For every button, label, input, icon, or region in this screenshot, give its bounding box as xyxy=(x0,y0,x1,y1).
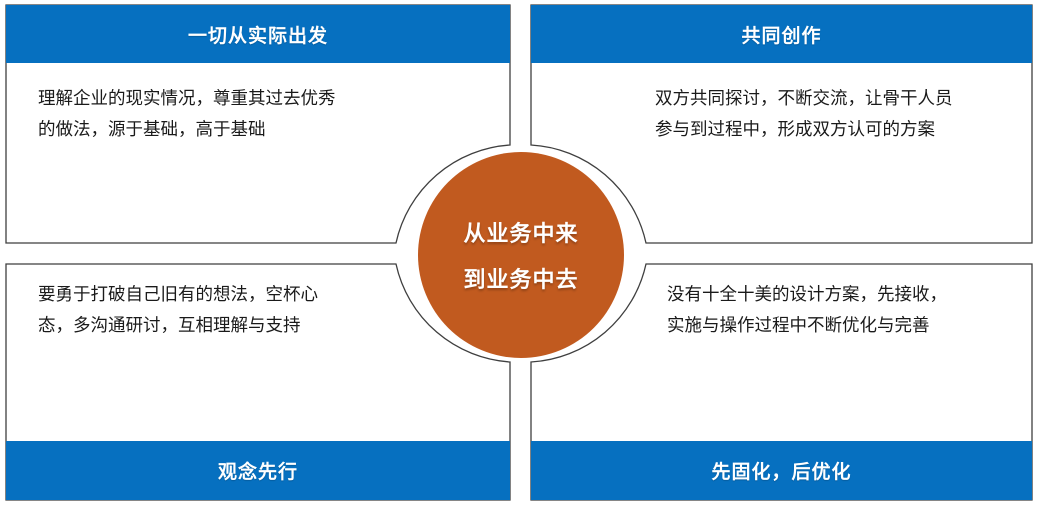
header-bar-top-right[interactable] xyxy=(531,5,1032,63)
header-bar-top-left[interactable] xyxy=(6,5,510,63)
center-hub-line-1: 从业务中来 xyxy=(463,216,578,248)
diagram-canvas: 一切从实际出发 共同创作 观念先行 先固化，后优化 理解企业的现实情况，尊重其过… xyxy=(0,0,1043,507)
center-hub-line-2: 到业务中去 xyxy=(463,262,578,294)
footer-bar-bottom-left[interactable] xyxy=(6,441,510,500)
center-hub-circle[interactable]: 从业务中来 到业务中去 xyxy=(418,152,624,358)
footer-bar-bottom-right[interactable] xyxy=(531,441,1032,500)
